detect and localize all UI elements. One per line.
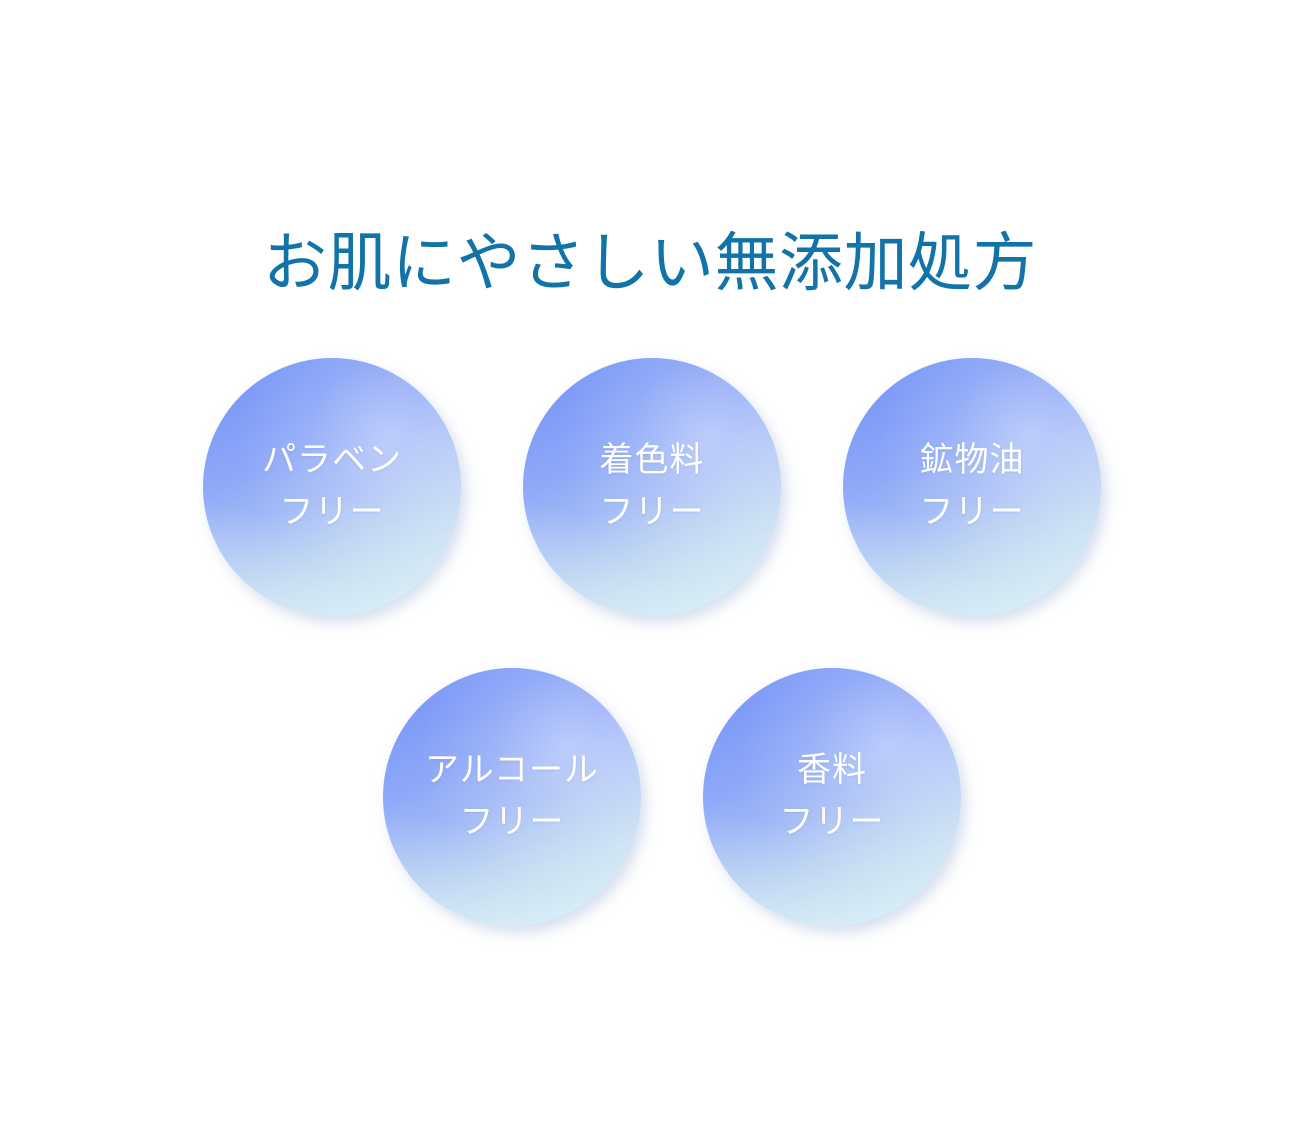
badge-label: アルコール フリー: [425, 745, 599, 848]
badge-grid: パラベン フリー 着色料 フリー 鉱物油 フリー アルコール フリー: [0, 0, 1300, 1131]
badge-label-line1: アルコール: [425, 745, 599, 797]
badge-alcohol-free: アルコール フリー: [383, 668, 641, 926]
free-from-infographic: お肌にやさしい無添加処方 パラベン フリー 着色料 フリー 鉱物油 フリー: [0, 0, 1300, 1131]
badge-label-line2: フリー: [920, 487, 1025, 539]
badge-label: 香料 フリー: [780, 745, 885, 848]
badge-label-line2: フリー: [600, 487, 705, 539]
badge-label-line1: 香料: [780, 745, 885, 797]
badge-paraben-free: パラベン フリー: [203, 358, 461, 616]
badge-label-line2: フリー: [780, 797, 885, 849]
badge-label: パラベン フリー: [262, 435, 402, 538]
badge-label-line2: フリー: [425, 797, 599, 849]
badge-fragrance-free: 香料 フリー: [703, 668, 961, 926]
badge-label-line2: フリー: [262, 487, 402, 539]
badge-label-line1: 鉱物油: [920, 435, 1025, 487]
badge-label-line1: 着色料: [600, 435, 705, 487]
badge-mineral-oil-free: 鉱物油 フリー: [843, 358, 1101, 616]
badge-label: 鉱物油 フリー: [920, 435, 1025, 538]
badge-label: 着色料 フリー: [600, 435, 705, 538]
badge-colorant-free: 着色料 フリー: [523, 358, 781, 616]
badge-label-line1: パラベン: [262, 435, 402, 487]
